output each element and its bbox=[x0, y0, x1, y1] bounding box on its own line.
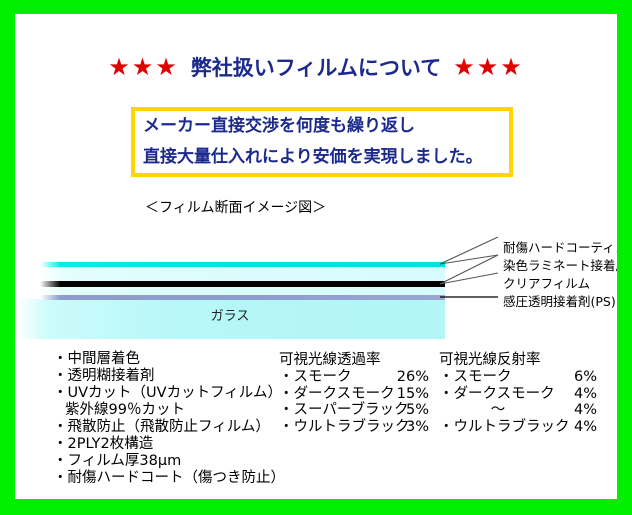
white-content-panel: ★★★弊社扱いフィルムについて★★★ メーカー直接交渉を何度も繰り返し 直接大量… bbox=[15, 14, 617, 499]
list-item: ・中間層着色 bbox=[53, 351, 303, 368]
transmittance-spec-column: 可視光線透過率 ・スモーク26% ・ダークスモーク15% ・スーパーブラック5%… bbox=[279, 351, 439, 435]
table-row: ・ウルトラブラック4% bbox=[439, 419, 609, 436]
spec-name: ・ウルトラブラック bbox=[279, 419, 391, 436]
layer-hardcoat-line bbox=[40, 262, 445, 267]
spec-value: 5% bbox=[391, 402, 429, 419]
film-cross-section-diagram: ガラス 耐傷ハードコーティング 染色ラミネート接着層 クリアフィルム 感圧透明接… bbox=[15, 229, 617, 339]
spec-value: 4% bbox=[557, 402, 597, 419]
table-row: ・スモーク26% bbox=[279, 369, 439, 386]
list-item-bullet: ・ bbox=[53, 470, 68, 486]
leader-lines bbox=[440, 229, 500, 309]
table-row: ・ウルトラブラック3% bbox=[279, 419, 439, 436]
list-item: ・UVカット（UVカットフィルム） bbox=[53, 385, 303, 402]
diagram-caption: ＜フィルム断面イメージ図＞ bbox=[145, 197, 326, 217]
spec-name: ・ダークスモーク bbox=[439, 386, 557, 403]
page-title-text: 弊社扱いフィルムについて bbox=[191, 52, 442, 82]
list-item: 紫外線99％カット bbox=[53, 402, 303, 419]
list-item: ・透明糊接着剤 bbox=[53, 368, 303, 385]
spec-name: ・ウルトラブラック bbox=[439, 419, 557, 436]
layer-label-list: 耐傷ハードコーティング 染色ラミネート接着層 クリアフィルム 感圧透明接着剤(P… bbox=[503, 239, 617, 311]
layer-label-clear-film: クリアフィルム bbox=[503, 275, 617, 293]
reflectance-spec-column: 可視光線反射率 ・スモーク6% ・ダークスモーク4% 〜4% ・ウルトラブラック… bbox=[439, 351, 609, 435]
table-row: ・スモーク6% bbox=[439, 369, 609, 386]
table-row: 〜4% bbox=[439, 402, 609, 419]
highlight-callout-box: メーカー直接交渉を何度も繰り返し 直接大量仕入れにより安価を実現しました。 bbox=[131, 107, 513, 177]
spec-name: ・スモーク bbox=[439, 369, 557, 386]
layer-label-dyed-laminate: 染色ラミネート接着層 bbox=[503, 257, 617, 275]
layer-clearfilm-line bbox=[40, 281, 445, 287]
layer-label-ps-adhesive: 感圧透明接着剤(PS) bbox=[503, 293, 617, 311]
list-item-label: フィルム厚38μm bbox=[68, 453, 182, 469]
spec-name: ・ダークスモーク bbox=[279, 386, 391, 403]
list-item-bullet: ・ bbox=[53, 419, 68, 435]
transmittance-title: 可視光線透過率 bbox=[279, 351, 439, 369]
callout-line-2: 直接大量仕入れにより安価を実現しました。 bbox=[135, 142, 509, 173]
callout-line-1: メーカー直接交渉を何度も繰り返し bbox=[135, 111, 509, 142]
table-row: ・スーパーブラック5% bbox=[279, 402, 439, 419]
spec-name: ・スーパーブラック bbox=[279, 402, 391, 419]
feature-list: ・中間層着色 ・透明糊接着剤 ・UVカット（UVカットフィルム） 紫外線99％カ… bbox=[53, 351, 303, 487]
spec-value: 4% bbox=[557, 419, 597, 436]
list-item-label: 耐傷ハードコート（傷つき防止） bbox=[68, 470, 286, 486]
spec-value: 15% bbox=[391, 386, 429, 403]
page-title: ★★★弊社扱いフィルムについて★★★ bbox=[15, 52, 617, 82]
star-decoration-right: ★★★ bbox=[453, 55, 524, 79]
star-decoration-left: ★★★ bbox=[108, 55, 179, 79]
list-item-bullet: ・ bbox=[53, 385, 68, 401]
list-item: ・フィルム厚38μm bbox=[53, 453, 303, 470]
spec-name: ・スモーク bbox=[279, 369, 391, 386]
spec-value: 4% bbox=[557, 386, 597, 403]
list-item-label: 2PLY2枚構造 bbox=[68, 436, 154, 452]
list-item-label: 中間層着色 bbox=[68, 351, 141, 367]
list-item: ・耐傷ハードコート（傷つき防止） bbox=[53, 470, 303, 487]
table-row: ・ダークスモーク4% bbox=[439, 386, 609, 403]
list-item-label: 飛散防止（飛散防止フィルム） bbox=[68, 419, 270, 435]
list-item-bullet: ・ bbox=[53, 453, 68, 469]
page-root: ★★★弊社扱いフィルムについて★★★ メーカー直接交渉を何度も繰り返し 直接大量… bbox=[0, 0, 632, 515]
spec-value: 3% bbox=[391, 419, 429, 436]
layer-label-hardcoat: 耐傷ハードコーティング bbox=[503, 239, 617, 257]
list-item-bullet: ・ bbox=[53, 351, 68, 367]
table-row: ・ダークスモーク15% bbox=[279, 386, 439, 403]
list-item-label: 紫外線99％カット bbox=[65, 402, 185, 418]
list-item: ・飛散防止（飛散防止フィルム） bbox=[53, 419, 303, 436]
glass-layer-label: ガラス bbox=[15, 305, 445, 324]
reflectance-title: 可視光線反射率 bbox=[439, 351, 609, 369]
list-item-bullet: ・ bbox=[53, 368, 68, 384]
layer-ps-adhesive-line bbox=[40, 295, 445, 300]
spec-value: 26% bbox=[391, 369, 429, 386]
list-item-label: 透明糊接着剤 bbox=[68, 368, 155, 384]
spec-name: 〜 bbox=[439, 402, 557, 419]
list-item-label: UVカット（UVカットフィルム） bbox=[68, 385, 282, 401]
list-item-bullet: ・ bbox=[53, 436, 68, 452]
list-item: ・2PLY2枚構造 bbox=[53, 436, 303, 453]
spec-value: 6% bbox=[557, 369, 597, 386]
